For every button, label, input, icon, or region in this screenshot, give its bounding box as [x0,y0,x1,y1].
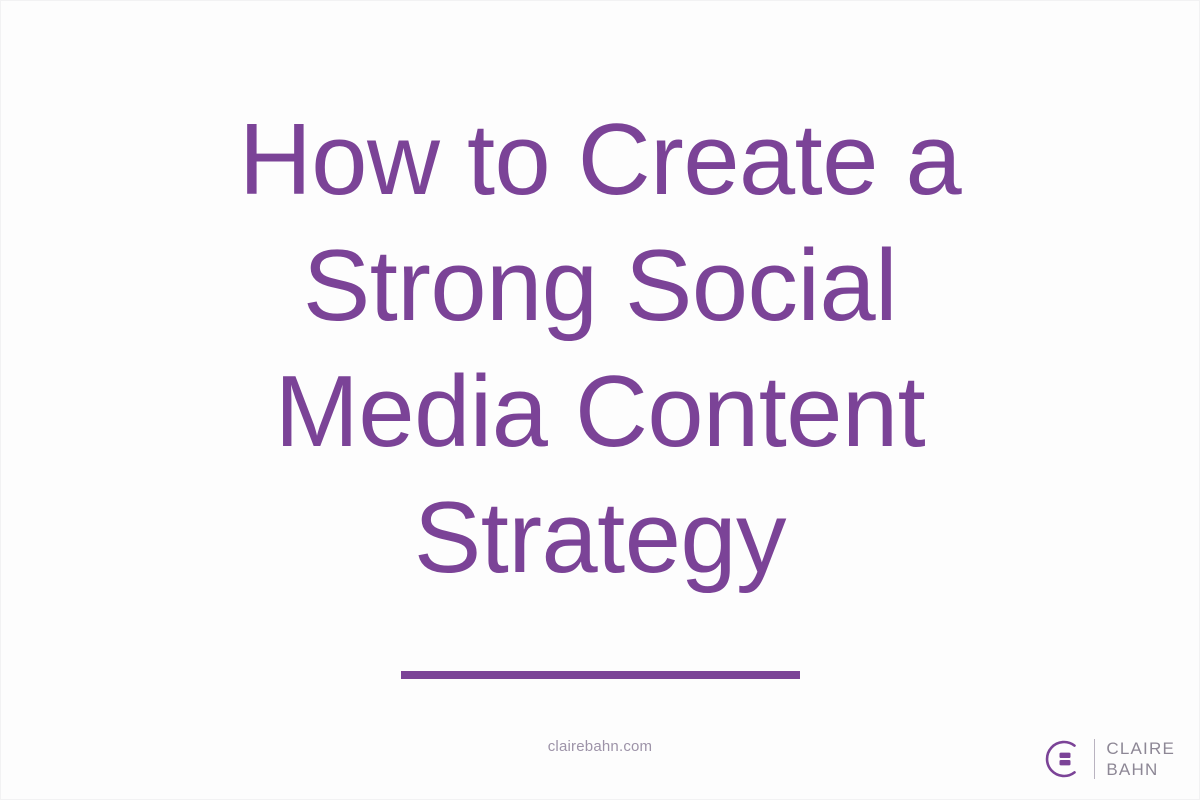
title-line-4: Strategy [61,475,1139,601]
brand-logo: CLAIRE BAHN [1043,731,1175,787]
divider [1,671,1199,679]
website-url: clairebahn.com [548,738,653,755]
page-title: How to Create a Strong Social Media Cont… [1,97,1199,601]
divider-rule [401,671,800,679]
brand-name-line-1: CLAIRE [1106,738,1175,759]
brand-name-line-2: BAHN [1106,759,1175,780]
brand-divider [1094,739,1095,779]
brand-name: CLAIRE BAHN [1106,738,1175,780]
blog-title-card: How to Create a Strong Social Media Cont… [0,0,1200,800]
title-line-1: How to Create a [61,97,1139,223]
website-url-container: clairebahn.com [1,738,1199,756]
claire-bahn-circle-mark-icon [1043,738,1085,780]
title-line-2: Strong Social [61,223,1139,349]
title-line-3: Media Content [61,349,1139,475]
